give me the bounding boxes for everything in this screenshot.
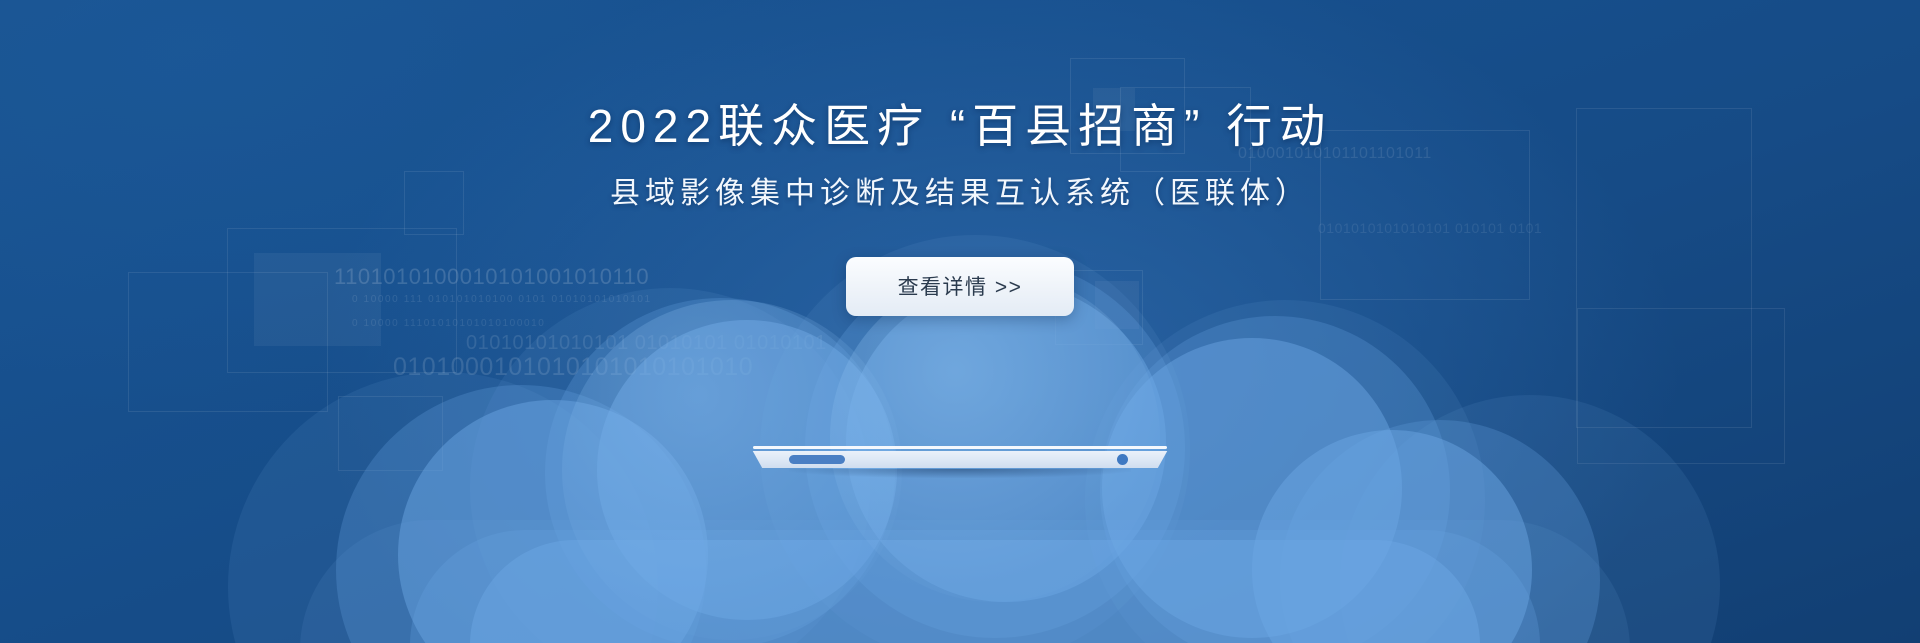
promo-banner: 1101010100010101001010110 0 10000 111 01… — [0, 0, 1920, 643]
binary-text-3: 0 10000 11101010101010100010 — [352, 318, 545, 329]
binary-text-5: 0101000101010101010101010 — [393, 353, 753, 382]
laptop-lid-edge — [753, 446, 1167, 449]
laptop-base-illustration — [745, 446, 1175, 476]
banner-subtitle: 县域影像集中诊断及结果互认系统（医联体） — [0, 174, 1920, 213]
laptop-shadow — [789, 469, 1131, 478]
cloud-highlight-lobe — [830, 272, 1160, 602]
laptop-base-slot — [789, 455, 845, 464]
decor-square-13 — [1577, 308, 1785, 464]
cta-container: 查看详情 >> — [0, 257, 1920, 316]
laptop-base-dot — [1117, 454, 1128, 465]
banner-content: 2022联众医疗 “百县招商” 行动 县域影像集中诊断及结果互认系统（医联体） … — [0, 0, 1920, 316]
binary-text-4: 01010101010101 01010101 01010101 — [466, 332, 827, 355]
decor-square-5 — [338, 396, 443, 471]
banner-title: 2022联众医疗 “百县招商” 行动 — [0, 98, 1920, 156]
view-details-button[interactable]: 查看详情 >> — [846, 257, 1074, 316]
